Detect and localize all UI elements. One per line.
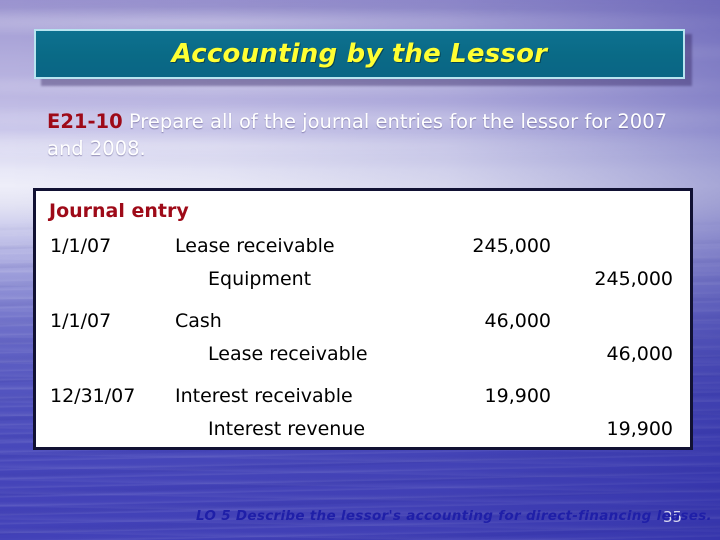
cell-account: Equipment [208,268,311,290]
cell-credit: 19,900 [536,418,673,440]
journal-entry-heading: Journal entry [49,200,189,222]
slide-title: Accounting by the Lessor [172,39,547,69]
cell-debit: 19,900 [416,385,551,407]
table-row: Interest revenue 19,900 [36,418,690,451]
table-row: Equipment 245,000 [36,268,690,301]
journal-entry-table: 1/1/07 Lease receivable 245,000 Equipmen… [36,235,690,451]
cell-account: Interest receivable [175,385,353,407]
cell-date: 1/1/07 [50,235,111,257]
exercise-prompt-text: Prepare all of the journal entries for t… [47,110,667,160]
row-spacer [36,376,690,385]
cell-debit: 46,000 [416,310,551,332]
cell-date: 1/1/07 [50,310,111,332]
journal-entry-box: Journal entry 1/1/07 Lease receivable 24… [33,188,693,450]
exercise-number: E21-10 [47,110,123,133]
table-row: 1/1/07 Lease receivable 245,000 [36,235,690,268]
exercise-prompt: E21-10 Prepare all of the journal entrie… [47,108,672,162]
cell-account: Lease receivable [175,235,335,257]
cell-credit: 245,000 [536,268,673,290]
cell-account: Interest revenue [208,418,365,440]
cell-debit: 245,000 [416,235,551,257]
row-spacer [36,301,690,310]
cell-account: Cash [175,310,222,332]
learning-objective-footer: LO 5 Describe the lessor's accounting fo… [196,508,712,524]
table-row: 1/1/07 Cash 46,000 [36,310,690,343]
table-row: Lease receivable 46,000 [36,343,690,376]
cell-account: Lease receivable [208,343,368,365]
cell-date: 12/31/07 [50,385,135,407]
cell-credit: 46,000 [536,343,673,365]
title-banner: Accounting by the Lessor [34,29,685,79]
slide-canvas: Accounting by the Lessor E21-10 Prepare … [0,0,720,540]
table-row: 12/31/07 Interest receivable 19,900 [36,385,690,418]
